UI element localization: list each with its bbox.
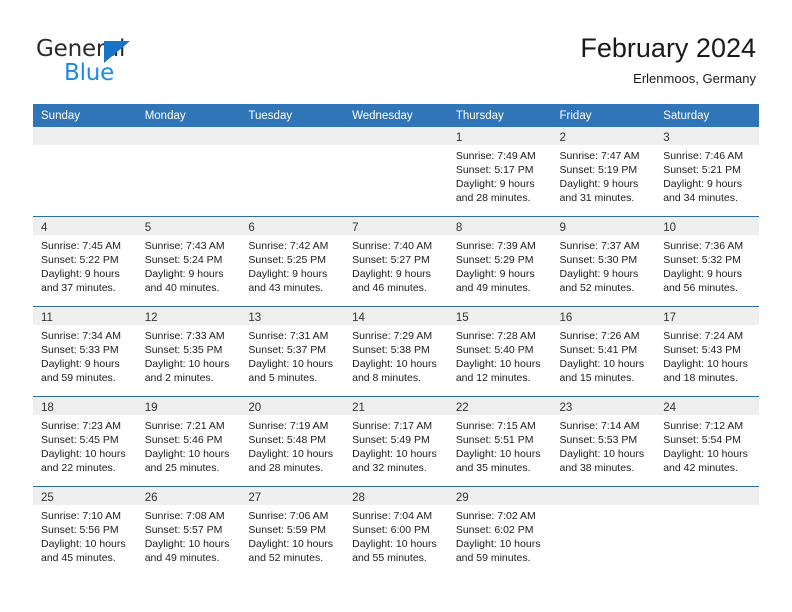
sunset-line: Sunset: 5:29 PM (456, 253, 546, 267)
day-number: 6 (248, 222, 254, 234)
daylight-line: Daylight: 9 hours (41, 357, 131, 371)
day-number-strip: 9 (552, 217, 656, 235)
day-cell-details: Sunrise: 7:39 AMSunset: 5:29 PMDaylight:… (448, 235, 552, 295)
day-cell-inner: 20Sunrise: 7:19 AMSunset: 5:48 PMDayligh… (240, 397, 344, 486)
daylight-line: Daylight: 10 hours (352, 537, 442, 551)
day-cell-details (33, 145, 137, 149)
sunrise-line: Sunrise: 7:06 AM (248, 509, 338, 523)
sunset-line: Sunset: 5:48 PM (248, 433, 338, 447)
weekday-header-sunday: Sunday (33, 104, 137, 127)
sunrise-line: Sunrise: 7:02 AM (456, 509, 546, 523)
calendar-day-cell[interactable]: 10Sunrise: 7:36 AMSunset: 5:32 PMDayligh… (655, 217, 759, 307)
calendar-day-cell[interactable]: 24Sunrise: 7:12 AMSunset: 5:54 PMDayligh… (655, 397, 759, 487)
sunrise-line: Sunrise: 7:26 AM (560, 329, 650, 343)
day-number-strip: 18 (33, 397, 137, 415)
day-number-strip: 16 (552, 307, 656, 325)
day-cell-inner (552, 487, 656, 576)
calendar-day-cell[interactable]: 12Sunrise: 7:33 AMSunset: 5:35 PMDayligh… (137, 307, 241, 397)
day-number-strip (137, 127, 241, 145)
sunrise-line: Sunrise: 7:31 AM (248, 329, 338, 343)
daylight-line-cont: and 49 minutes. (145, 551, 235, 565)
day-cell-inner (137, 127, 241, 216)
day-cell-details: Sunrise: 7:17 AMSunset: 5:49 PMDaylight:… (344, 415, 448, 475)
calendar-day-cell[interactable]: 20Sunrise: 7:19 AMSunset: 5:48 PMDayligh… (240, 397, 344, 487)
daylight-line: Daylight: 10 hours (145, 447, 235, 461)
sunset-line: Sunset: 5:41 PM (560, 343, 650, 357)
daylight-line: Daylight: 9 hours (560, 267, 650, 281)
weekday-header-wednesday: Wednesday (344, 104, 448, 127)
day-cell-details (240, 145, 344, 149)
sunrise-line: Sunrise: 7:21 AM (145, 419, 235, 433)
daylight-line: Daylight: 9 hours (663, 267, 753, 281)
day-number: 11 (41, 312, 53, 324)
weekday-header-thursday: Thursday (448, 104, 552, 127)
daylight-line-cont: and 40 minutes. (145, 281, 235, 295)
calendar-day-cell-empty (137, 127, 241, 217)
day-number: 19 (145, 402, 158, 414)
day-cell-inner: 11Sunrise: 7:34 AMSunset: 5:33 PMDayligh… (33, 307, 137, 396)
day-cell-details: Sunrise: 7:49 AMSunset: 5:17 PMDaylight:… (448, 145, 552, 205)
sunset-line: Sunset: 5:56 PM (41, 523, 131, 537)
daylight-line-cont: and 59 minutes. (41, 371, 131, 385)
sunrise-line: Sunrise: 7:29 AM (352, 329, 442, 343)
day-cell-details: Sunrise: 7:23 AMSunset: 5:45 PMDaylight:… (33, 415, 137, 475)
day-number-strip: 4 (33, 217, 137, 235)
sunset-line: Sunset: 5:59 PM (248, 523, 338, 537)
day-cell-inner (240, 127, 344, 216)
daylight-line: Daylight: 9 hours (456, 267, 546, 281)
day-number: 9 (560, 222, 566, 234)
calendar-day-cell[interactable]: 21Sunrise: 7:17 AMSunset: 5:49 PMDayligh… (344, 397, 448, 487)
day-cell-inner: 17Sunrise: 7:24 AMSunset: 5:43 PMDayligh… (655, 307, 759, 396)
day-number: 27 (248, 492, 261, 504)
sunset-line: Sunset: 5:38 PM (352, 343, 442, 357)
day-number-strip: 5 (137, 217, 241, 235)
day-number: 26 (145, 492, 158, 504)
day-number: 23 (560, 402, 573, 414)
day-number: 20 (248, 402, 261, 414)
daylight-line: Daylight: 10 hours (145, 537, 235, 551)
daylight-line: Daylight: 10 hours (41, 447, 131, 461)
day-cell-details: Sunrise: 7:10 AMSunset: 5:56 PMDaylight:… (33, 505, 137, 565)
sunset-line: Sunset: 5:53 PM (560, 433, 650, 447)
day-cell-inner: 18Sunrise: 7:23 AMSunset: 5:45 PMDayligh… (33, 397, 137, 486)
sunrise-line: Sunrise: 7:34 AM (41, 329, 131, 343)
day-number: 17 (663, 312, 676, 324)
logo-general-blue[interactable]: General Blue (36, 36, 236, 90)
daylight-line-cont: and 15 minutes. (560, 371, 650, 385)
sunrise-line: Sunrise: 7:28 AM (456, 329, 546, 343)
calendar-day-cell[interactable]: 3Sunrise: 7:46 AMSunset: 5:21 PMDaylight… (655, 127, 759, 217)
day-number-strip: 26 (137, 487, 241, 505)
daylight-line: Daylight: 10 hours (456, 447, 546, 461)
day-number-strip: 20 (240, 397, 344, 415)
calendar-day-cell[interactable]: 26Sunrise: 7:08 AMSunset: 5:57 PMDayligh… (137, 487, 241, 577)
sunrise-line: Sunrise: 7:45 AM (41, 239, 131, 253)
sunrise-line: Sunrise: 7:23 AM (41, 419, 131, 433)
day-cell-details (137, 145, 241, 149)
day-number-strip: 11 (33, 307, 137, 325)
calendar-day-cell[interactable]: 5Sunrise: 7:43 AMSunset: 5:24 PMDaylight… (137, 217, 241, 307)
sunset-line: Sunset: 5:27 PM (352, 253, 442, 267)
daylight-line: Daylight: 10 hours (41, 537, 131, 551)
sunset-line: Sunset: 5:43 PM (663, 343, 753, 357)
day-number: 1 (456, 132, 462, 144)
day-cell-inner: 26Sunrise: 7:08 AMSunset: 5:57 PMDayligh… (137, 487, 241, 576)
calendar-day-cell[interactable]: 1Sunrise: 7:49 AMSunset: 5:17 PMDaylight… (448, 127, 552, 217)
daylight-line-cont: and 31 minutes. (560, 191, 650, 205)
calendar-day-cell[interactable]: 18Sunrise: 7:23 AMSunset: 5:45 PMDayligh… (33, 397, 137, 487)
daylight-line: Daylight: 10 hours (456, 357, 546, 371)
title-block: February 2024 Erlenmoos, Germany (580, 32, 756, 86)
daylight-line-cont: and 46 minutes. (352, 281, 442, 295)
daylight-line-cont: and 56 minutes. (663, 281, 753, 295)
sunrise-line: Sunrise: 7:24 AM (663, 329, 753, 343)
day-cell-details: Sunrise: 7:37 AMSunset: 5:30 PMDaylight:… (552, 235, 656, 295)
day-cell-details (655, 505, 759, 509)
day-number-strip (344, 127, 448, 145)
day-cell-inner (33, 127, 137, 216)
sunset-line: Sunset: 5:32 PM (663, 253, 753, 267)
day-cell-details: Sunrise: 7:43 AMSunset: 5:24 PMDaylight:… (137, 235, 241, 295)
sunset-line: Sunset: 5:25 PM (248, 253, 338, 267)
sunrise-line: Sunrise: 7:17 AM (352, 419, 442, 433)
day-cell-details: Sunrise: 7:33 AMSunset: 5:35 PMDaylight:… (137, 325, 241, 385)
daylight-line-cont: and 32 minutes. (352, 461, 442, 475)
daylight-line: Daylight: 9 hours (663, 177, 753, 191)
daylight-line-cont: and 25 minutes. (145, 461, 235, 475)
day-number: 21 (352, 402, 365, 414)
daylight-line: Daylight: 10 hours (456, 537, 546, 551)
calendar-day-cell[interactable]: 9Sunrise: 7:37 AMSunset: 5:30 PMDaylight… (552, 217, 656, 307)
day-cell-inner: 23Sunrise: 7:14 AMSunset: 5:53 PMDayligh… (552, 397, 656, 486)
day-cell-details: Sunrise: 7:28 AMSunset: 5:40 PMDaylight:… (448, 325, 552, 385)
day-number-strip (240, 127, 344, 145)
daylight-line-cont: and 2 minutes. (145, 371, 235, 385)
sunset-line: Sunset: 5:37 PM (248, 343, 338, 357)
day-cell-details: Sunrise: 7:21 AMSunset: 5:46 PMDaylight:… (137, 415, 241, 475)
calendar-day-cell[interactable]: 22Sunrise: 7:15 AMSunset: 5:51 PMDayligh… (448, 397, 552, 487)
sunrise-line: Sunrise: 7:10 AM (41, 509, 131, 523)
sunrise-line: Sunrise: 7:19 AM (248, 419, 338, 433)
day-number-strip: 7 (344, 217, 448, 235)
day-number-strip: 14 (344, 307, 448, 325)
calendar-body: 1Sunrise: 7:49 AMSunset: 5:17 PMDaylight… (33, 127, 759, 576)
day-number-strip: 13 (240, 307, 344, 325)
day-number: 10 (663, 222, 676, 234)
daylight-line-cont: and 49 minutes. (456, 281, 546, 295)
sunrise-line: Sunrise: 7:49 AM (456, 149, 546, 163)
day-number: 5 (145, 222, 151, 234)
day-cell-inner: 10Sunrise: 7:36 AMSunset: 5:32 PMDayligh… (655, 217, 759, 306)
calendar-day-cell[interactable]: 4Sunrise: 7:45 AMSunset: 5:22 PMDaylight… (33, 217, 137, 307)
daylight-line: Daylight: 10 hours (248, 357, 338, 371)
calendar-day-cell[interactable]: 16Sunrise: 7:26 AMSunset: 5:41 PMDayligh… (552, 307, 656, 397)
day-number-strip (655, 487, 759, 505)
calendar-day-cell-empty (240, 127, 344, 217)
daylight-line-cont: and 59 minutes. (456, 551, 546, 565)
day-cell-details: Sunrise: 7:46 AMSunset: 5:21 PMDaylight:… (655, 145, 759, 205)
day-number-strip: 27 (240, 487, 344, 505)
day-cell-inner (655, 487, 759, 576)
daylight-line-cont: and 37 minutes. (41, 281, 131, 295)
day-number-strip: 8 (448, 217, 552, 235)
sunset-line: Sunset: 5:51 PM (456, 433, 546, 447)
sunset-line: Sunset: 5:45 PM (41, 433, 131, 447)
day-cell-inner: 28Sunrise: 7:04 AMSunset: 6:00 PMDayligh… (344, 487, 448, 576)
day-number-strip: 1 (448, 127, 552, 145)
sunset-line: Sunset: 5:35 PM (145, 343, 235, 357)
calendar-day-cell[interactable]: 8Sunrise: 7:39 AMSunset: 5:29 PMDaylight… (448, 217, 552, 307)
day-cell-details: Sunrise: 7:08 AMSunset: 5:57 PMDaylight:… (137, 505, 241, 565)
day-number-strip: 6 (240, 217, 344, 235)
sunrise-line: Sunrise: 7:42 AM (248, 239, 338, 253)
daylight-line-cont: and 28 minutes. (456, 191, 546, 205)
sunset-line: Sunset: 5:57 PM (145, 523, 235, 537)
daylight-line-cont: and 52 minutes. (560, 281, 650, 295)
sunrise-line: Sunrise: 7:46 AM (663, 149, 753, 163)
location-subtitle: Erlenmoos, Germany (580, 71, 756, 86)
daylight-line-cont: and 52 minutes. (248, 551, 338, 565)
day-cell-inner: 12Sunrise: 7:33 AMSunset: 5:35 PMDayligh… (137, 307, 241, 396)
daylight-line: Daylight: 10 hours (352, 447, 442, 461)
calendar-day-cell[interactable]: 17Sunrise: 7:24 AMSunset: 5:43 PMDayligh… (655, 307, 759, 397)
calendar-week-row: 4Sunrise: 7:45 AMSunset: 5:22 PMDaylight… (33, 217, 759, 307)
sunrise-line: Sunrise: 7:43 AM (145, 239, 235, 253)
page-title: February 2024 (580, 32, 756, 64)
day-cell-inner: 2Sunrise: 7:47 AMSunset: 5:19 PMDaylight… (552, 127, 656, 216)
sunrise-line: Sunrise: 7:40 AM (352, 239, 442, 253)
day-cell-inner: 3Sunrise: 7:46 AMSunset: 5:21 PMDaylight… (655, 127, 759, 216)
day-number-strip: 10 (655, 217, 759, 235)
sunset-line: Sunset: 5:30 PM (560, 253, 650, 267)
sunrise-line: Sunrise: 7:08 AM (145, 509, 235, 523)
calendar-day-cell[interactable]: 28Sunrise: 7:04 AMSunset: 6:00 PMDayligh… (344, 487, 448, 577)
day-cell-inner: 15Sunrise: 7:28 AMSunset: 5:40 PMDayligh… (448, 307, 552, 396)
sunrise-line: Sunrise: 7:47 AM (560, 149, 650, 163)
daylight-line: Daylight: 9 hours (248, 267, 338, 281)
day-cell-inner: 25Sunrise: 7:10 AMSunset: 5:56 PMDayligh… (33, 487, 137, 576)
calendar-grid: SundayMondayTuesdayWednesdayThursdayFrid… (33, 104, 759, 576)
sunrise-line: Sunrise: 7:36 AM (663, 239, 753, 253)
day-cell-inner: 16Sunrise: 7:26 AMSunset: 5:41 PMDayligh… (552, 307, 656, 396)
daylight-line-cont: and 35 minutes. (456, 461, 546, 475)
page-header: General Blue February 2024 Erlenmoos, Ge… (0, 0, 792, 100)
day-number-strip: 25 (33, 487, 137, 505)
calendar-day-cell[interactable]: 14Sunrise: 7:29 AMSunset: 5:38 PMDayligh… (344, 307, 448, 397)
sunrise-line: Sunrise: 7:04 AM (352, 509, 442, 523)
day-cell-inner: 1Sunrise: 7:49 AMSunset: 5:17 PMDaylight… (448, 127, 552, 216)
daylight-line-cont: and 28 minutes. (248, 461, 338, 475)
daylight-line: Daylight: 10 hours (352, 357, 442, 371)
day-number: 25 (41, 492, 54, 504)
sunset-line: Sunset: 5:19 PM (560, 163, 650, 177)
day-cell-details: Sunrise: 7:14 AMSunset: 5:53 PMDaylight:… (552, 415, 656, 475)
sunset-line: Sunset: 6:00 PM (352, 523, 442, 537)
day-cell-details: Sunrise: 7:31 AMSunset: 5:37 PMDaylight:… (240, 325, 344, 385)
calendar-day-cell-empty (33, 127, 137, 217)
day-cell-details: Sunrise: 7:29 AMSunset: 5:38 PMDaylight:… (344, 325, 448, 385)
sunrise-line: Sunrise: 7:12 AM (663, 419, 753, 433)
sunrise-line: Sunrise: 7:37 AM (560, 239, 650, 253)
weekday-header-monday: Monday (137, 104, 241, 127)
calendar-day-cell[interactable]: 11Sunrise: 7:34 AMSunset: 5:33 PMDayligh… (33, 307, 137, 397)
day-number: 18 (41, 402, 54, 414)
day-cell-inner: 19Sunrise: 7:21 AMSunset: 5:46 PMDayligh… (137, 397, 241, 486)
daylight-line-cont: and 55 minutes. (352, 551, 442, 565)
day-cell-inner: 6Sunrise: 7:42 AMSunset: 5:25 PMDaylight… (240, 217, 344, 306)
sunrise-line: Sunrise: 7:14 AM (560, 419, 650, 433)
calendar-day-cell[interactable]: 2Sunrise: 7:47 AMSunset: 5:19 PMDaylight… (552, 127, 656, 217)
day-cell-inner: 13Sunrise: 7:31 AMSunset: 5:37 PMDayligh… (240, 307, 344, 396)
logo-text-blue: Blue (64, 60, 114, 86)
calendar-page: General Blue February 2024 Erlenmoos, Ge… (0, 0, 792, 612)
calendar-day-cell-empty (655, 487, 759, 577)
calendar-week-row: 11Sunrise: 7:34 AMSunset: 5:33 PMDayligh… (33, 307, 759, 397)
day-number-strip: 3 (655, 127, 759, 145)
daylight-line-cont: and 22 minutes. (41, 461, 131, 475)
daylight-line-cont: and 5 minutes. (248, 371, 338, 385)
day-cell-inner (344, 127, 448, 216)
sunset-line: Sunset: 5:46 PM (145, 433, 235, 447)
calendar-day-cell[interactable]: 6Sunrise: 7:42 AMSunset: 5:25 PMDaylight… (240, 217, 344, 307)
day-number-strip: 29 (448, 487, 552, 505)
sunset-line: Sunset: 6:02 PM (456, 523, 546, 537)
calendar-day-cell-empty (344, 127, 448, 217)
day-number: 28 (352, 492, 365, 504)
day-number: 3 (663, 132, 669, 144)
daylight-line: Daylight: 10 hours (663, 447, 753, 461)
day-cell-details (552, 505, 656, 509)
daylight-line-cont: and 43 minutes. (248, 281, 338, 295)
day-number: 12 (145, 312, 158, 324)
day-number: 4 (41, 222, 47, 234)
day-number: 15 (456, 312, 469, 324)
day-number-strip: 17 (655, 307, 759, 325)
day-cell-details: Sunrise: 7:36 AMSunset: 5:32 PMDaylight:… (655, 235, 759, 295)
calendar-week-row: 18Sunrise: 7:23 AMSunset: 5:45 PMDayligh… (33, 397, 759, 487)
day-number-strip: 22 (448, 397, 552, 415)
calendar-week-row: 1Sunrise: 7:49 AMSunset: 5:17 PMDaylight… (33, 127, 759, 217)
calendar-day-cell[interactable]: 29Sunrise: 7:02 AMSunset: 6:02 PMDayligh… (448, 487, 552, 577)
day-cell-details: Sunrise: 7:47 AMSunset: 5:19 PMDaylight:… (552, 145, 656, 205)
daylight-line-cont: and 42 minutes. (663, 461, 753, 475)
day-cell-details: Sunrise: 7:24 AMSunset: 5:43 PMDaylight:… (655, 325, 759, 385)
sunset-line: Sunset: 5:17 PM (456, 163, 546, 177)
day-cell-inner: 24Sunrise: 7:12 AMSunset: 5:54 PMDayligh… (655, 397, 759, 486)
sunrise-line: Sunrise: 7:33 AM (145, 329, 235, 343)
daylight-line: Daylight: 9 hours (456, 177, 546, 191)
calendar-day-cell[interactable]: 19Sunrise: 7:21 AMSunset: 5:46 PMDayligh… (137, 397, 241, 487)
daylight-line: Daylight: 9 hours (560, 177, 650, 191)
sunrise-line: Sunrise: 7:39 AM (456, 239, 546, 253)
sunset-line: Sunset: 5:24 PM (145, 253, 235, 267)
daylight-line: Daylight: 9 hours (41, 267, 131, 281)
day-cell-details: Sunrise: 7:06 AMSunset: 5:59 PMDaylight:… (240, 505, 344, 565)
calendar-day-cell[interactable]: 23Sunrise: 7:14 AMSunset: 5:53 PMDayligh… (552, 397, 656, 487)
sunrise-line: Sunrise: 7:15 AM (456, 419, 546, 433)
day-number-strip (33, 127, 137, 145)
calendar-day-cell[interactable]: 27Sunrise: 7:06 AMSunset: 5:59 PMDayligh… (240, 487, 344, 577)
daylight-line: Daylight: 9 hours (352, 267, 442, 281)
day-number-strip: 23 (552, 397, 656, 415)
day-cell-inner: 29Sunrise: 7:02 AMSunset: 6:02 PMDayligh… (448, 487, 552, 576)
day-cell-details: Sunrise: 7:12 AMSunset: 5:54 PMDaylight:… (655, 415, 759, 475)
daylight-line: Daylight: 9 hours (145, 267, 235, 281)
day-cell-details: Sunrise: 7:19 AMSunset: 5:48 PMDaylight:… (240, 415, 344, 475)
day-cell-details: Sunrise: 7:26 AMSunset: 5:41 PMDaylight:… (552, 325, 656, 385)
sunset-line: Sunset: 5:49 PM (352, 433, 442, 447)
day-number-strip: 28 (344, 487, 448, 505)
day-number: 8 (456, 222, 462, 234)
daylight-line: Daylight: 10 hours (663, 357, 753, 371)
day-cell-inner: 8Sunrise: 7:39 AMSunset: 5:29 PMDaylight… (448, 217, 552, 306)
day-number: 2 (560, 132, 566, 144)
weekday-header-friday: Friday (552, 104, 656, 127)
calendar-day-cell[interactable]: 7Sunrise: 7:40 AMSunset: 5:27 PMDaylight… (344, 217, 448, 307)
weekday-header-tuesday: Tuesday (240, 104, 344, 127)
day-cell-inner: 9Sunrise: 7:37 AMSunset: 5:30 PMDaylight… (552, 217, 656, 306)
calendar-day-cell[interactable]: 15Sunrise: 7:28 AMSunset: 5:40 PMDayligh… (448, 307, 552, 397)
weekday-header-saturday: Saturday (655, 104, 759, 127)
calendar-day-cell[interactable]: 25Sunrise: 7:10 AMSunset: 5:56 PMDayligh… (33, 487, 137, 577)
day-cell-details: Sunrise: 7:02 AMSunset: 6:02 PMDaylight:… (448, 505, 552, 565)
day-cell-details: Sunrise: 7:42 AMSunset: 5:25 PMDaylight:… (240, 235, 344, 295)
daylight-line: Daylight: 10 hours (560, 357, 650, 371)
day-cell-inner: 7Sunrise: 7:40 AMSunset: 5:27 PMDaylight… (344, 217, 448, 306)
sunset-line: Sunset: 5:54 PM (663, 433, 753, 447)
daylight-line-cont: and 18 minutes. (663, 371, 753, 385)
day-number: 29 (456, 492, 469, 504)
daylight-line-cont: and 8 minutes. (352, 371, 442, 385)
sunset-line: Sunset: 5:21 PM (663, 163, 753, 177)
day-cell-details: Sunrise: 7:40 AMSunset: 5:27 PMDaylight:… (344, 235, 448, 295)
daylight-line-cont: and 34 minutes. (663, 191, 753, 205)
sunset-line: Sunset: 5:33 PM (41, 343, 131, 357)
daylight-line-cont: and 38 minutes. (560, 461, 650, 475)
day-number: 16 (560, 312, 573, 324)
calendar-day-cell-empty (552, 487, 656, 577)
day-cell-inner: 4Sunrise: 7:45 AMSunset: 5:22 PMDaylight… (33, 217, 137, 306)
day-number-strip: 24 (655, 397, 759, 415)
day-cell-details: Sunrise: 7:15 AMSunset: 5:51 PMDaylight:… (448, 415, 552, 475)
day-cell-inner: 21Sunrise: 7:17 AMSunset: 5:49 PMDayligh… (344, 397, 448, 486)
daylight-line: Daylight: 10 hours (560, 447, 650, 461)
day-number: 22 (456, 402, 469, 414)
calendar-day-cell[interactable]: 13Sunrise: 7:31 AMSunset: 5:37 PMDayligh… (240, 307, 344, 397)
day-cell-details: Sunrise: 7:45 AMSunset: 5:22 PMDaylight:… (33, 235, 137, 295)
day-cell-details: Sunrise: 7:34 AMSunset: 5:33 PMDaylight:… (33, 325, 137, 385)
calendar-week-row: 25Sunrise: 7:10 AMSunset: 5:56 PMDayligh… (33, 487, 759, 577)
day-cell-details: Sunrise: 7:04 AMSunset: 6:00 PMDaylight:… (344, 505, 448, 565)
day-cell-inner: 27Sunrise: 7:06 AMSunset: 5:59 PMDayligh… (240, 487, 344, 576)
day-number-strip: 15 (448, 307, 552, 325)
day-number: 24 (663, 402, 676, 414)
sunset-line: Sunset: 5:40 PM (456, 343, 546, 357)
day-number: 7 (352, 222, 358, 234)
daylight-line: Daylight: 10 hours (145, 357, 235, 371)
day-cell-details (344, 145, 448, 149)
daylight-line-cont: and 12 minutes. (456, 371, 546, 385)
day-number-strip: 2 (552, 127, 656, 145)
day-number-strip (552, 487, 656, 505)
day-number: 13 (248, 312, 261, 324)
day-number-strip: 21 (344, 397, 448, 415)
day-number: 14 (352, 312, 365, 324)
day-number-strip: 12 (137, 307, 241, 325)
day-number-strip: 19 (137, 397, 241, 415)
day-cell-inner: 22Sunrise: 7:15 AMSunset: 5:51 PMDayligh… (448, 397, 552, 486)
